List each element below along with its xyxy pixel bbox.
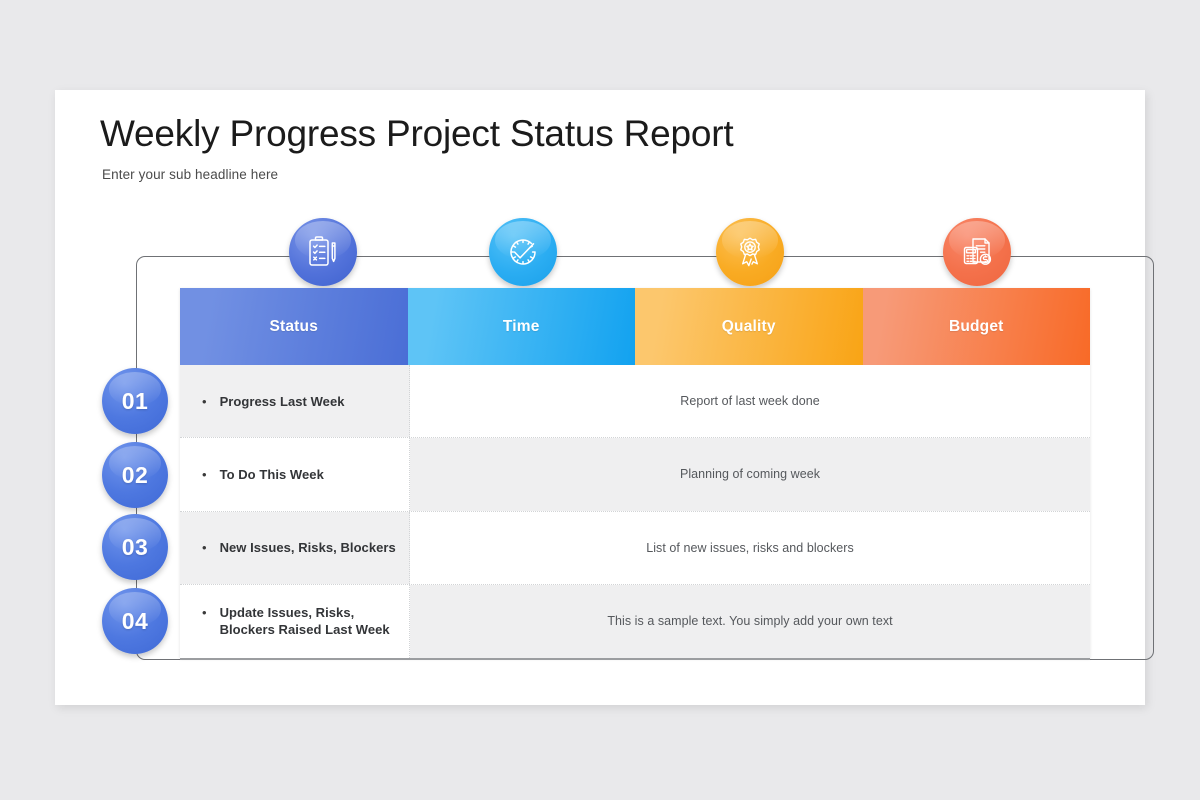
row-label: Update Issues, Risks, Blockers Raised La… — [220, 604, 400, 638]
row-label: New Issues, Risks, Blockers — [220, 539, 396, 556]
column-header-quality: Quality — [635, 288, 863, 365]
row-description-cell: List of new issues, risks and blockers — [410, 512, 1090, 584]
clipboard-checklist-pencil-icon — [289, 218, 357, 286]
column-header-status: Status — [180, 288, 408, 365]
table-row: • To Do This Week Planning of coming wee… — [180, 438, 1090, 511]
bullet-icon: • — [202, 393, 207, 410]
page-title: Weekly Progress Project Status Report — [100, 114, 1060, 155]
row-description: Planning of coming week — [680, 467, 820, 481]
column-header-time: Time — [408, 288, 636, 365]
bullet-icon: • — [202, 604, 207, 621]
slide-card: Weekly Progress Project Status Report En… — [55, 90, 1145, 705]
table-row: • New Issues, Risks, Blockers List of ne… — [180, 512, 1090, 585]
table-bottom-rule — [180, 658, 1090, 660]
row-label-cell: • New Issues, Risks, Blockers — [180, 512, 410, 584]
calculator-invoice-icon — [943, 218, 1011, 286]
row-number-03: 03 — [102, 514, 168, 580]
row-number-label: 03 — [122, 534, 149, 561]
row-description-cell: Report of last week done — [410, 365, 1090, 437]
row-number-label: 02 — [122, 462, 149, 489]
row-description-cell: Planning of coming week — [410, 438, 1090, 510]
bullet-icon: • — [202, 466, 207, 483]
column-header-budget: Budget — [863, 288, 1091, 365]
table-body: • Progress Last Week Report of last week… — [180, 365, 1090, 658]
row-number-01: 01 — [102, 368, 168, 434]
row-label-cell: • Update Issues, Risks, Blockers Raised … — [180, 585, 410, 658]
table-row: • Progress Last Week Report of last week… — [180, 365, 1090, 438]
row-number-04: 04 — [102, 588, 168, 654]
row-description: This is a sample text. You simply add yo… — [607, 614, 892, 628]
award-ribbon-icon — [716, 218, 784, 286]
row-number-label: 01 — [122, 388, 149, 415]
row-label-cell: • Progress Last Week — [180, 365, 410, 437]
title-block: Weekly Progress Project Status Report En… — [100, 114, 1060, 182]
row-description: Report of last week done — [680, 394, 819, 408]
status-table: Status Time Quality Budget • Progress La… — [180, 288, 1090, 658]
row-description: List of new issues, risks and blockers — [646, 541, 854, 555]
row-label: Progress Last Week — [220, 393, 345, 410]
bullet-icon: • — [202, 539, 207, 556]
row-label-cell: • To Do This Week — [180, 438, 410, 510]
row-number-label: 04 — [122, 608, 149, 635]
page-subtitle: Enter your sub headline here — [102, 167, 1060, 182]
clock-check-icon — [489, 218, 557, 286]
row-number-02: 02 — [102, 442, 168, 508]
row-label: To Do This Week — [220, 466, 324, 483]
row-description-cell: This is a sample text. You simply add yo… — [410, 585, 1090, 658]
table-row: • Update Issues, Risks, Blockers Raised … — [180, 585, 1090, 658]
table-header-row: Status Time Quality Budget — [180, 288, 1090, 365]
